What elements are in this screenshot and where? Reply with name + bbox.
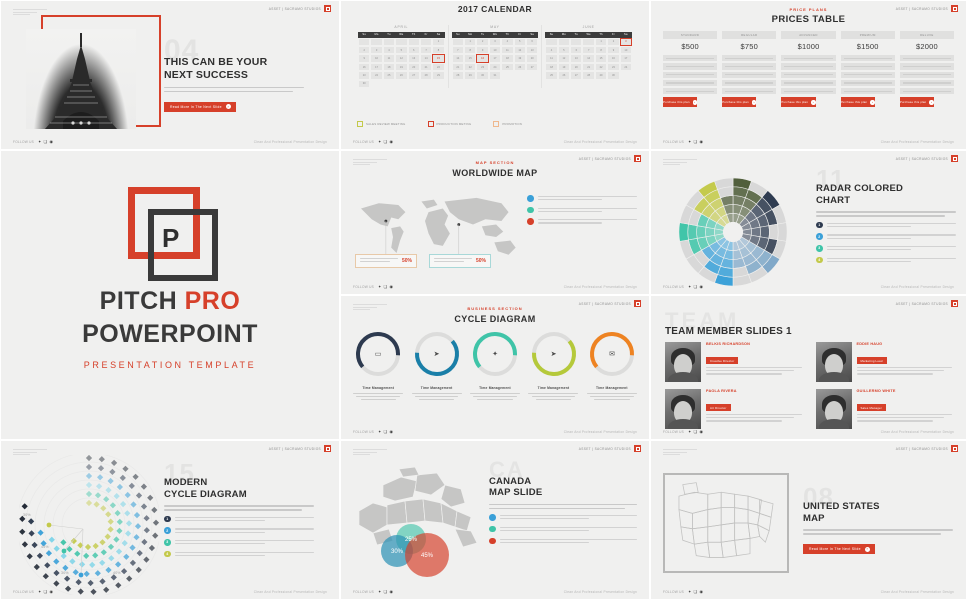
calendar-day[interactable]: 1 bbox=[595, 38, 607, 46]
canada-bullet-list bbox=[489, 514, 637, 545]
tick-marks-decor bbox=[663, 159, 697, 165]
calendar-day-empty bbox=[582, 38, 594, 46]
calendar-day[interactable]: 11 bbox=[501, 46, 513, 54]
slide-text-block: 08 UNITED STATES MAP Read more in the ne… bbox=[803, 487, 953, 555]
follow-label: FOLLOW US bbox=[353, 285, 374, 289]
calendar-day[interactable]: 11 bbox=[383, 54, 395, 62]
behance-icon[interactable]: ❏ bbox=[694, 140, 698, 144]
dribbble-icon[interactable]: ◉ bbox=[389, 140, 393, 144]
team-member-card[interactable]: PAOLA RIVERAArt Director bbox=[665, 389, 802, 429]
monitor-icon: ▭ bbox=[353, 329, 403, 379]
calendar-day[interactable]: 17 bbox=[370, 63, 382, 71]
month-name: MAY bbox=[452, 25, 539, 29]
chart-node bbox=[99, 578, 105, 584]
calendar-day[interactable]: 6 bbox=[408, 46, 420, 54]
chart-node bbox=[149, 545, 155, 551]
chart-node bbox=[86, 491, 92, 497]
calendar-day[interactable]: 25 bbox=[545, 71, 557, 79]
slide-worldwide-map[interactable]: ASSET | SACRAMO STUDIOS MAP SECTION WORL… bbox=[340, 150, 650, 295]
chart-node bbox=[53, 580, 59, 586]
footer-tagline: Clean and professional presentation desi… bbox=[254, 140, 327, 144]
footer-tagline: Clean and professional presentation desi… bbox=[564, 430, 637, 434]
social-icons[interactable]: ✦ ❏ ◉ bbox=[378, 285, 393, 289]
bullet-item: 1 bbox=[164, 516, 314, 523]
calendar-day[interactable]: 20 bbox=[570, 63, 582, 71]
calendar-day[interactable]: 22 bbox=[464, 63, 476, 71]
chart-node bbox=[37, 530, 43, 536]
calendar-day[interactable]: 8 bbox=[464, 46, 476, 54]
footer-tagline: Clean and professional presentation desi… bbox=[881, 285, 954, 289]
behance-icon[interactable]: ❏ bbox=[44, 590, 48, 594]
twitter-icon[interactable]: ✦ bbox=[688, 140, 692, 144]
price-plan-card[interactable]: DELUXE$2000Purchase this plan› bbox=[900, 31, 954, 107]
dribbble-icon[interactable]: ◉ bbox=[389, 285, 393, 289]
purchase-plan-button[interactable]: Purchase this plan› bbox=[781, 97, 815, 107]
arrow-icon: › bbox=[811, 100, 816, 105]
calendar-day[interactable]: 26 bbox=[395, 71, 407, 79]
behance-icon[interactable]: ❏ bbox=[694, 430, 698, 434]
calendar-day[interactable]: 12 bbox=[395, 54, 407, 62]
cycle-ring[interactable]: ✦ bbox=[470, 329, 520, 379]
twitter-icon[interactable]: ✦ bbox=[688, 285, 692, 289]
calendar-day[interactable]: 18 bbox=[383, 63, 395, 71]
slide-footer: FOLLOW US ✦ ❏ ◉ Clean and professional p… bbox=[353, 285, 637, 289]
twitter-icon bbox=[489, 526, 496, 533]
legend-item: SALES REVIEW MEETING bbox=[357, 121, 406, 127]
chart-node bbox=[122, 466, 128, 472]
chart-node bbox=[141, 503, 147, 509]
chart-node bbox=[95, 570, 101, 576]
social-icons[interactable]: ✦ ❏ ◉ bbox=[688, 590, 703, 594]
chart-guide-ring bbox=[26, 462, 152, 588]
plan-feature-row bbox=[722, 63, 776, 69]
calendar-day[interactable]: 23 bbox=[476, 63, 488, 71]
eiffel-tower-photo bbox=[26, 29, 136, 129]
calendar-day[interactable]: 9 bbox=[358, 54, 370, 62]
calendar-day[interactable]: 29 bbox=[595, 71, 607, 79]
calendar-day[interactable]: 6 bbox=[570, 46, 582, 54]
calendar-day[interactable]: 5 bbox=[558, 46, 570, 54]
calendar-day[interactable]: 26 bbox=[558, 71, 570, 79]
chart-node bbox=[152, 532, 158, 538]
calendar-day[interactable]: 10 bbox=[489, 46, 501, 54]
calendar-day[interactable]: 8 bbox=[432, 46, 444, 54]
title-line-2: NEXT SUCCESS bbox=[164, 69, 304, 82]
calendar-day[interactable]: 23 bbox=[358, 71, 370, 79]
chart-node bbox=[84, 571, 90, 577]
chart-node bbox=[115, 561, 121, 567]
paper-plane-icon: ➤ bbox=[412, 329, 462, 379]
calendar-day[interactable]: 9 bbox=[476, 46, 488, 54]
price-plan-card[interactable]: REGULAR$750Purchase this plan› bbox=[722, 31, 776, 107]
button-label: Purchase this plan bbox=[900, 100, 927, 104]
calendar-day[interactable]: 20 bbox=[408, 63, 420, 71]
avatar-body bbox=[819, 419, 849, 429]
calendar-day[interactable]: 18 bbox=[501, 54, 513, 62]
chart-node bbox=[43, 573, 49, 579]
chart-node bbox=[143, 515, 149, 521]
behance-icon[interactable]: ❏ bbox=[44, 140, 48, 144]
social-icons[interactable]: ✦ ❏ ◉ bbox=[688, 430, 703, 434]
chart-node bbox=[151, 507, 157, 513]
twitter-icon[interactable]: ✦ bbox=[38, 590, 42, 594]
plan-feature-row bbox=[722, 80, 776, 86]
calendar-day[interactable]: 1 bbox=[464, 38, 476, 46]
calendar-day[interactable]: 30 bbox=[358, 80, 370, 88]
cycle-ring[interactable]: ▭ bbox=[353, 329, 403, 379]
social-icons[interactable]: ✦ ❏ ◉ bbox=[688, 140, 703, 144]
chart-node bbox=[143, 556, 149, 562]
behance-icon[interactable]: ❏ bbox=[384, 140, 388, 144]
plan-price: $2000 bbox=[900, 39, 954, 55]
chart-node bbox=[124, 510, 130, 516]
calendar-day[interactable]: 7 bbox=[420, 46, 432, 54]
modern-cycle-bullet-list: 1234 bbox=[164, 516, 314, 558]
calendar-day[interactable]: 11 bbox=[545, 54, 557, 62]
slide-united-states-map[interactable]: ASSET | SACRAMO STUDIOS bbox=[650, 440, 967, 600]
chart-node bbox=[31, 542, 37, 548]
calendar-day[interactable]: 5 bbox=[395, 46, 407, 54]
label-dot bbox=[79, 573, 84, 578]
title-line-1: RADAR COLORED bbox=[816, 183, 956, 195]
chart-node bbox=[114, 510, 120, 516]
calendar-day[interactable]: 3 bbox=[620, 38, 632, 46]
social-icons[interactable]: ✦ ❏ ◉ bbox=[38, 140, 53, 144]
plan-feature-row bbox=[841, 80, 895, 86]
map-callout[interactable]: 50% bbox=[429, 254, 491, 268]
purchase-plan-button[interactable]: Purchase this plan› bbox=[722, 97, 756, 107]
calendar-day[interactable]: 18 bbox=[545, 63, 557, 71]
map-frame-decor bbox=[663, 473, 789, 573]
callout-lines bbox=[434, 258, 472, 264]
slide-footer: FOLLOW US ✦ ❏ ◉ Clean and professional p… bbox=[13, 140, 327, 144]
calendar-day[interactable]: 5 bbox=[514, 38, 526, 46]
calendar-day[interactable]: 12 bbox=[558, 54, 570, 62]
calendar-day[interactable]: 19 bbox=[514, 54, 526, 62]
calendar-day[interactable]: 28 bbox=[582, 71, 594, 79]
brand-label: ASSET | SACRAMO STUDIOS bbox=[896, 302, 948, 306]
brand-bar: ASSET | SACRAMO STUDIOS bbox=[579, 445, 641, 452]
dribbble-icon[interactable]: ◉ bbox=[389, 590, 393, 594]
twitter-icon[interactable]: ✦ bbox=[378, 430, 382, 434]
calendar-day[interactable]: 19 bbox=[558, 63, 570, 71]
slide-logo-cover[interactable]: P PITCH PRO POWERPOINT PRESENTATION TEMP… bbox=[0, 150, 340, 440]
calendar-day[interactable]: 20 bbox=[526, 54, 538, 62]
twitter-icon[interactable]: ✦ bbox=[378, 285, 382, 289]
legend-item: PRODUCTION METING bbox=[428, 121, 472, 127]
status-badge: Marketing Lead bbox=[857, 357, 887, 365]
chart-node bbox=[97, 474, 103, 480]
calendar-day[interactable]: 13 bbox=[408, 54, 420, 62]
calendar-day[interactable]: 21 bbox=[420, 63, 432, 71]
bullet-item bbox=[527, 207, 637, 214]
page-title: WORLDWIDE MAP bbox=[341, 168, 649, 178]
cycle-ring[interactable]: ➤ bbox=[412, 329, 462, 379]
slide-canada-map[interactable]: ASSET | SACRAMO STUDIOS 25% bbox=[340, 440, 650, 600]
chart-node bbox=[100, 505, 106, 511]
dribbble-icon[interactable]: ◉ bbox=[699, 285, 703, 289]
read-more-button[interactable]: Read more in the next slide › bbox=[803, 544, 875, 554]
callout-lines bbox=[360, 258, 398, 264]
bullet-text bbox=[538, 207, 638, 214]
cycle-ring-row: ▭➤✦➤✉ bbox=[353, 329, 637, 379]
calendar-day[interactable]: 24 bbox=[620, 63, 632, 71]
bullet-text bbox=[500, 526, 638, 533]
logo-word-pitch: PITCH bbox=[100, 287, 178, 315]
avatar-body bbox=[668, 372, 698, 382]
footer-tagline: Clean and professional presentation desi… bbox=[564, 140, 637, 144]
calendar-day[interactable]: 2 bbox=[358, 46, 370, 54]
radar-wedge bbox=[778, 223, 788, 242]
plan-feature-row bbox=[900, 55, 954, 61]
calendar-day[interactable]: 10 bbox=[370, 54, 382, 62]
chart-node bbox=[69, 558, 75, 564]
calendar-day[interactable]: 24 bbox=[370, 71, 382, 79]
calendar-day[interactable]: 15 bbox=[464, 54, 476, 62]
calendar-day[interactable]: 26 bbox=[514, 63, 526, 71]
read-more-button[interactable]: Read more in the next slide › bbox=[164, 102, 236, 112]
chart-node bbox=[19, 529, 25, 535]
template-preview-grid: ASSET | SACRAMO STUDIOS bbox=[0, 0, 967, 600]
bullet-item bbox=[527, 218, 637, 225]
section-eyebrow: BUSINESS SECTION bbox=[341, 306, 649, 311]
team-member-grid: BELKIS RICHARDSONCreative DirectorEDDIE … bbox=[665, 342, 952, 429]
social-icons[interactable]: ✦ ❏ ◉ bbox=[378, 590, 393, 594]
twitter-icon[interactable]: ✦ bbox=[378, 140, 382, 144]
bullet-marker-icon: 1 bbox=[164, 516, 171, 523]
calendar-day[interactable]: 23 bbox=[607, 63, 619, 71]
status-badge: Sales Manager bbox=[857, 404, 886, 412]
calendar-day-empty bbox=[420, 38, 432, 46]
brand-label: ASSET | SACRAMO STUDIOS bbox=[269, 447, 321, 451]
follow-label: FOLLOW US bbox=[13, 140, 34, 144]
dribbble-icon[interactable]: ◉ bbox=[699, 590, 703, 594]
calendar-day[interactable]: 22 bbox=[595, 63, 607, 71]
calendar-day[interactable]: 27 bbox=[408, 71, 420, 79]
plan-feature-row bbox=[722, 55, 776, 61]
map-callout[interactable]: 50% bbox=[355, 254, 417, 268]
cycle-step-label: Time Management bbox=[351, 386, 405, 402]
calendar-day[interactable]: 6 bbox=[526, 38, 538, 46]
chart-node bbox=[64, 576, 70, 582]
month-name: APRIL bbox=[358, 25, 445, 29]
calendar-day-empty bbox=[395, 38, 407, 46]
slide-text-block: 15 MODERN CYCLE DIAGRAM 1234 bbox=[164, 463, 314, 563]
cycle-step-label: Time Management bbox=[409, 386, 463, 402]
cycle-heading: BUSINESS SECTION CYCLE DIAGRAM bbox=[341, 306, 649, 324]
calendar-day[interactable]: 16 bbox=[358, 63, 370, 71]
calendar-day[interactable]: 30 bbox=[476, 71, 488, 79]
price-plan-card[interactable]: STANDARD$500Purchase this plan› bbox=[663, 31, 717, 107]
behance-icon[interactable]: ❏ bbox=[384, 285, 388, 289]
slide-cycle-diagram[interactable]: ASSET | SACRAMO STUDIOS BUSINESS SECTION… bbox=[340, 295, 650, 440]
calendar-day[interactable]: 28 bbox=[420, 71, 432, 79]
chart-node bbox=[49, 537, 55, 543]
dribbble-icon[interactable]: ◉ bbox=[49, 140, 53, 144]
slide-modern-cycle-diagram[interactable]: ASSET | SACRAMO STUDIOS 30% 45% 30% 40% … bbox=[0, 440, 340, 600]
member-name: PAOLA RIVERA bbox=[706, 389, 802, 393]
calendar-day[interactable]: 13 bbox=[526, 46, 538, 54]
bullet-marker-icon: 4 bbox=[816, 257, 823, 264]
purchase-plan-button[interactable]: Purchase this plan› bbox=[900, 97, 934, 107]
social-icons[interactable]: ✦ ❏ ◉ bbox=[378, 430, 393, 434]
calendar-day[interactable]: 10 bbox=[620, 46, 632, 54]
calendar-day[interactable]: 7 bbox=[452, 46, 464, 54]
calendar-day[interactable]: 21 bbox=[452, 63, 464, 71]
calendar-day[interactable]: 2 bbox=[607, 38, 619, 46]
calendar-day[interactable]: 4 bbox=[545, 46, 557, 54]
price-plan-columns: STANDARD$500Purchase this plan›REGULAR$7… bbox=[663, 31, 954, 107]
behance-icon[interactable]: ❏ bbox=[694, 590, 698, 594]
calendar-day[interactable]: 24 bbox=[489, 63, 501, 71]
section-eyebrow: PRICE PLANS bbox=[651, 7, 966, 12]
bullet-item: 4 bbox=[816, 257, 956, 264]
plan-feature-row bbox=[722, 72, 776, 78]
calendar-day[interactable]: 4 bbox=[501, 38, 513, 46]
calendar-day[interactable]: 13 bbox=[570, 54, 582, 62]
tick-marks-decor bbox=[353, 449, 387, 455]
calendar-months: APRILSuMoTuWeThFrSa123456789101112131415… bbox=[355, 25, 635, 88]
calendar-day[interactable]: 16 bbox=[476, 54, 488, 62]
slide-radar-chart[interactable]: ASSET | SACRAMO STUDIOS 11 RADAR COLORED… bbox=[650, 150, 967, 295]
chart-node bbox=[83, 553, 89, 559]
member-name: GUILLERMO WHITE bbox=[857, 389, 953, 393]
calendar-day[interactable]: 8 bbox=[595, 46, 607, 54]
follow-label: FOLLOW US bbox=[663, 590, 684, 594]
calendar-day[interactable]: 2 bbox=[476, 38, 488, 46]
dribbble-icon[interactable]: ◉ bbox=[699, 140, 703, 144]
calendar-day[interactable]: 30 bbox=[607, 71, 619, 79]
step-title: Time Management bbox=[526, 386, 580, 390]
price-plan-card[interactable]: ADVANCED$1000Purchase this plan› bbox=[781, 31, 835, 107]
cycle-ring[interactable]: ✉ bbox=[587, 329, 637, 379]
calendar-day[interactable]: 3 bbox=[370, 46, 382, 54]
chart-node bbox=[132, 474, 138, 480]
send-icon: ➤ bbox=[529, 329, 579, 379]
calendar-day[interactable]: 17 bbox=[489, 54, 501, 62]
arrow-icon: › bbox=[693, 100, 698, 105]
calendar-day[interactable]: 17 bbox=[620, 54, 632, 62]
plan-name: REGULAR bbox=[722, 31, 776, 39]
calendar-day[interactable]: 19 bbox=[395, 63, 407, 71]
calendar-day[interactable]: 14 bbox=[582, 54, 594, 62]
twitter-icon: ✦ bbox=[470, 329, 520, 379]
chart-node bbox=[85, 544, 91, 550]
month-name: JUNE bbox=[545, 25, 632, 29]
calendar-day[interactable]: 28 bbox=[452, 71, 464, 79]
calendar-day[interactable]: 27 bbox=[570, 71, 582, 79]
price-plan-card[interactable]: PREMIUM$1500Purchase this plan› bbox=[841, 31, 895, 107]
calendar-day[interactable]: 22 bbox=[432, 63, 444, 71]
twitter-icon[interactable]: ✦ bbox=[688, 590, 692, 594]
calendar-day[interactable]: 29 bbox=[464, 71, 476, 79]
cycle-ring[interactable]: ➤ bbox=[529, 329, 579, 379]
brand-label: ASSET | SACRAMO STUDIOS bbox=[896, 157, 948, 161]
chart-node bbox=[34, 564, 40, 570]
slide-next-success[interactable]: ASSET | SACRAMO STUDIOS bbox=[0, 0, 340, 150]
map-heading: MAP SECTION WORLDWIDE MAP bbox=[341, 160, 649, 178]
logo-subtitle: PRESENTATION TEMPLATE bbox=[84, 360, 256, 370]
plan-name: ADVANCED bbox=[781, 31, 835, 39]
radar-wedge bbox=[760, 226, 769, 239]
calendar-legend: SALES REVIEW MEETINGPRODUCTION METINGPRO… bbox=[357, 121, 522, 127]
twitter-icon[interactable]: ✦ bbox=[688, 430, 692, 434]
twitter-icon[interactable]: ✦ bbox=[38, 140, 42, 144]
svg-text:25%: 25% bbox=[405, 537, 418, 543]
calendar-day[interactable]: 15 bbox=[595, 54, 607, 62]
cycle-step-label: Time Management bbox=[468, 386, 522, 402]
calendar-day[interactable]: 16 bbox=[607, 54, 619, 62]
calendar-day[interactable]: 9 bbox=[607, 46, 619, 54]
purchase-plan-button[interactable]: Purchase this plan› bbox=[663, 97, 697, 107]
calendar-day[interactable]: 31 bbox=[489, 71, 501, 79]
dribbble-icon[interactable]: ◉ bbox=[699, 430, 703, 434]
canada-map-graphic: 25% 30% 45% bbox=[353, 467, 483, 579]
status-badge: Art Director bbox=[706, 404, 731, 412]
bullet-item: 4 bbox=[164, 551, 314, 558]
slide-calendar[interactable]: 2017 CALENDAR APRILSuMoTuWeThFrSa1234567… bbox=[340, 0, 650, 150]
team-member-card[interactable]: BELKIS RICHARDSONCreative Director bbox=[665, 342, 802, 382]
social-icons[interactable]: ✦ ❏ ◉ bbox=[688, 285, 703, 289]
calendar-day-empty bbox=[570, 38, 582, 46]
team-member-card[interactable]: GUILLERMO WHITESales Manager bbox=[816, 389, 953, 429]
behance-icon[interactable]: ❏ bbox=[384, 590, 388, 594]
footer-tagline: Clean and professional presentation desi… bbox=[254, 590, 327, 594]
calendar-day[interactable]: 14 bbox=[420, 54, 432, 62]
button-label: Purchase this plan bbox=[722, 100, 749, 104]
calendar-day[interactable]: 7 bbox=[582, 46, 594, 54]
behance-icon[interactable]: ❏ bbox=[384, 430, 388, 434]
calendar-day[interactable]: 15 bbox=[432, 54, 444, 62]
social-icons[interactable]: ✦ ❏ ◉ bbox=[38, 590, 53, 594]
social-icons[interactable]: ✦ ❏ ◉ bbox=[378, 140, 393, 144]
team-member-card[interactable]: EDDIE HAUGMarketing Lead bbox=[816, 342, 953, 382]
dribbble-icon[interactable]: ◉ bbox=[389, 430, 393, 434]
purchase-plan-button[interactable]: Purchase this plan› bbox=[841, 97, 875, 107]
red-square-logo-icon bbox=[634, 445, 641, 452]
united-states-map-graphic bbox=[665, 475, 787, 571]
plan-feature-row bbox=[663, 72, 717, 78]
slide-prices-table[interactable]: ASSET | SACRAMO STUDIOS PRICE PLANS PRIC… bbox=[650, 0, 967, 150]
bullet-marker-icon: 4 bbox=[164, 551, 171, 558]
calendar-day[interactable]: 14 bbox=[452, 54, 464, 62]
behance-icon[interactable]: ❏ bbox=[694, 285, 698, 289]
calendar-day[interactable]: 4 bbox=[383, 46, 395, 54]
calendar-day[interactable]: 25 bbox=[383, 71, 395, 79]
calendar-day[interactable]: 3 bbox=[489, 38, 501, 46]
chart-node bbox=[98, 465, 104, 471]
calendar-day[interactable]: 1 bbox=[432, 38, 444, 46]
plan-feature-row bbox=[663, 80, 717, 86]
page-title: MODERN CYCLE DIAGRAM bbox=[164, 477, 314, 500]
twitter-icon[interactable]: ✦ bbox=[378, 590, 382, 594]
avatar bbox=[665, 389, 701, 429]
dribbble-icon[interactable]: ◉ bbox=[49, 590, 53, 594]
calendar-day[interactable]: 21 bbox=[582, 63, 594, 71]
section-eyebrow: MAP SECTION bbox=[341, 160, 649, 165]
slide-footer: FOLLOW US ✦ ❏ ◉ Clean and professional p… bbox=[663, 590, 954, 594]
pinterest-icon bbox=[489, 538, 496, 545]
calendar-day[interactable]: 29 bbox=[432, 71, 444, 79]
calendar-day[interactable]: 27 bbox=[526, 63, 538, 71]
calendar-day[interactable]: 12 bbox=[514, 46, 526, 54]
logo-title-line-2: POWERPOINT bbox=[82, 320, 258, 349]
chart-node bbox=[123, 554, 129, 560]
map-bullet-list bbox=[527, 195, 637, 230]
slide-team-members[interactable]: ASSET | SACRAMO STUDIOS TEAM TEAM MEMBER… bbox=[650, 295, 967, 440]
calendar-day[interactable]: 25 bbox=[501, 63, 513, 71]
logo-block: P PITCH PRO POWERPOINT PRESENTATION TEMP… bbox=[1, 187, 339, 370]
